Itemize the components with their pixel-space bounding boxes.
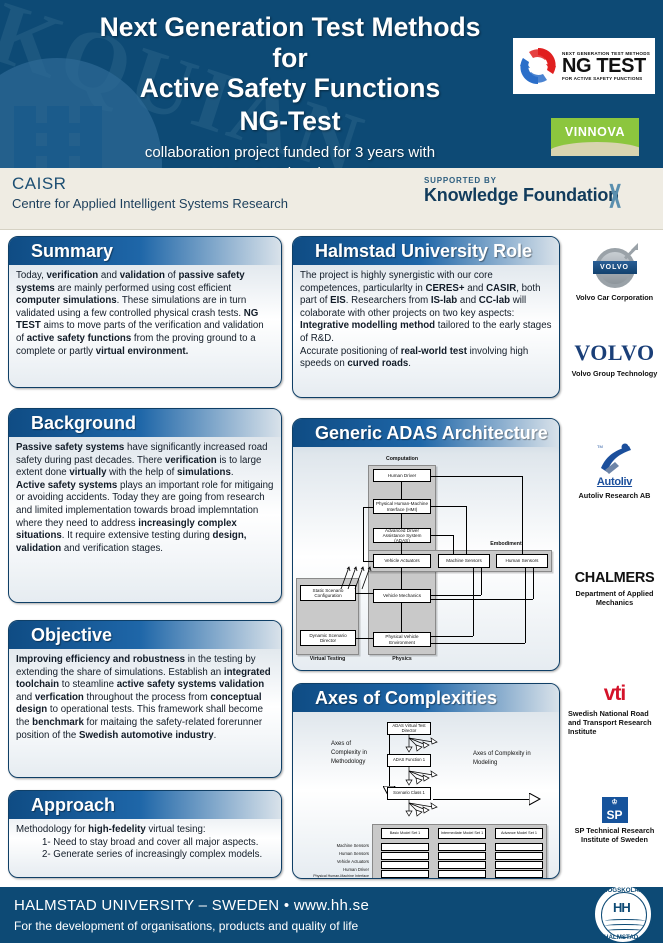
autoliv-wordmark: Autoliv [566, 476, 663, 488]
panel-axes-complexities: Axes of Complexities Axes of Complexity … [292, 683, 560, 879]
axes-branch-fan-icon-1 [405, 734, 441, 755]
axes-label-methodology: Axes of Complexity in Methodology [331, 740, 381, 767]
axes-matrix-cell [438, 843, 486, 851]
axes-matrix-cell [495, 870, 543, 878]
axes-row-label-2: Vehicle Actuators [305, 860, 369, 865]
knowledge-foundation-chevron-icon: ⟩⟨ [608, 180, 616, 211]
axes-col-header-basic: Basic Model Set 1 [381, 828, 429, 839]
adas-connector [363, 507, 364, 561]
panel-halmstad-role-title: Halmstad University Role [293, 237, 559, 265]
axes-row-label-0: Machine Sensors [305, 844, 369, 849]
axes-matrix-cell [495, 852, 543, 860]
adas-box-physical-vehicle-environment: Physical Vehicle Environment [373, 632, 431, 647]
poster-title-block: Next Generation Test Methods for Active … [80, 12, 500, 168]
logo-volvo-car-corporation: VOLVO Volvo Car Corporation [566, 244, 663, 302]
adas-connector [522, 476, 523, 554]
panel-objective-title: Objective [9, 621, 281, 649]
logo-caption-volvo-car: Volvo Car Corporation [566, 293, 663, 302]
ngtest-logo-text: NEXT GENERATION TEST METHODS NG TEST FOR… [559, 51, 651, 81]
axes-row-label-3: Human Driver [305, 868, 369, 873]
volvo-group-wordmark: VOLVO [566, 340, 663, 366]
adas-box-hmi: Physical Human-Machine Interface (HMI) [373, 499, 431, 514]
adas-connector [356, 638, 373, 639]
axes-row-label-1: Human Sensors [305, 852, 369, 857]
logo-caption-volvo-group: Volvo Group Technology [566, 369, 663, 378]
adas-label-virtual-testing: Virtual Testing [296, 656, 359, 662]
ngtest-cycle-icon [517, 44, 559, 88]
halmstad-paragraph-1: The project is highly synergistic with o… [300, 270, 552, 346]
logo-chalmers: CHALMERS Department of Applied Mechanics [566, 570, 663, 607]
panel-adas-title: Generic ADAS Architecture [293, 419, 559, 447]
axes-branch-fan-icon-3 [405, 800, 441, 820]
adas-connector [356, 593, 373, 594]
footer-line-2: For the development of organisations, pr… [14, 919, 358, 933]
adas-box-dynamic-scenario-director: Dynamic Scenario Director [300, 630, 356, 646]
axes-box-scenario-class: Scenario Class 1 [387, 787, 431, 800]
axes-row-label-4: Physical Human-Machine Interface (HMI) [305, 875, 369, 879]
axes-matrix-cell [438, 861, 486, 869]
axes-matrix-cell [438, 870, 486, 878]
logo-caption-sp: SP Technical Research Institute of Swede… [566, 826, 663, 844]
panel-summary-body: Today, verification and validation of pa… [9, 265, 281, 364]
title-line-2: Active Safety Functions [80, 73, 500, 104]
adas-box-adas: Advanced Driver Assistance System (ADAS) [373, 528, 431, 543]
adas-connector [453, 535, 454, 554]
vinnova-logo: VINNOVA [551, 118, 639, 156]
approach-item-1: 1- Need to stay broad and cover all majo… [16, 837, 274, 850]
logo-caption-chalmers: Department of Applied Mechanics [566, 589, 663, 607]
panel-objective-body: Improving efficiency and robustness in t… [9, 649, 281, 748]
adas-connector [363, 507, 373, 508]
sp-wordmark: SP [606, 808, 622, 822]
ngtest-main-text: NG TEST [562, 56, 651, 76]
halmstad-university-seal: HÖGSKOLAN HH HALMSTAD [592, 887, 654, 943]
background-paragraph-2: Active safety systems plays an important… [16, 480, 274, 556]
supported-by-label: SUPPORTED BY [424, 176, 619, 185]
logo-volvo-group-technology: VOLVO Volvo Group Technology [566, 340, 663, 378]
knowledge-foundation-name: Knowledge Foundation [424, 185, 619, 206]
adas-connector [401, 482, 402, 499]
vinnova-wave-decoration [551, 142, 639, 156]
vti-wordmark: vti [566, 682, 663, 706]
axes-branch-fan-icon-2 [405, 767, 441, 788]
axes-matrix-cell [495, 843, 543, 851]
knowledge-foundation-logo: SUPPORTED BY Knowledge Foundation [424, 176, 619, 206]
axes-matrix-cell [381, 843, 429, 851]
adas-box-human-sensors: Human Sensors [496, 554, 548, 568]
axes-modeling-arrow-icon [529, 793, 541, 806]
axes-label-modeling: Axes of Complexity in Modeling [473, 750, 531, 768]
panel-summary-title: Summary [9, 237, 281, 265]
adas-connector [431, 476, 522, 477]
summary-paragraph-1: Today, verification and validation of pa… [16, 270, 274, 358]
axes-matrix-cell [381, 870, 429, 878]
caisr-bar: CAISR Centre for Applied Intelligent Sys… [0, 168, 663, 230]
adas-connector [533, 568, 534, 599]
logo-autoliv-research: TM Autoliv Autoliv Research AB [566, 442, 663, 500]
adas-connector [525, 568, 526, 643]
poster-root: KQUIAN Next Generation Test Methods for … [0, 0, 663, 943]
caisr-acronym: CAISR [12, 174, 66, 194]
adas-diagram: Computation Embodiment Virtual Testing P… [293, 447, 559, 671]
title-line-3: NG-Test [80, 104, 500, 138]
adas-label-physics: Physics [368, 656, 436, 662]
adas-connector [401, 514, 402, 528]
panel-summary: Summary Today, verification and validati… [8, 236, 282, 388]
adas-box-vehicle-actuators: Vehicle Actuators [373, 554, 431, 568]
logo-sp-technical-research: ♔ SP SP Technical Research Institute of … [566, 797, 663, 844]
caisr-full-name: Centre for Applied Intelligent Systems R… [12, 196, 288, 211]
axes-modeling-axis-line [433, 799, 529, 800]
panel-background-title: Background [9, 409, 281, 437]
panel-axes-title: Axes of Complexities [293, 684, 559, 712]
adas-box-human-driver: Human Driver [373, 469, 431, 482]
panel-approach: Approach Methodology for high-fedelity v… [8, 790, 282, 878]
adas-label-embodiment: Embodiment [475, 541, 537, 547]
panel-approach-body: Methodology for high-fedelity virtual te… [9, 819, 281, 868]
background-paragraph-1: Passive safety systems have significantl… [16, 442, 274, 480]
adas-connector [473, 568, 474, 636]
adas-label-computation: Computation [368, 456, 436, 462]
seal-bottom-text: HALMSTAD [604, 934, 638, 941]
chalmers-wordmark: CHALMERS [566, 570, 663, 586]
adas-connector [431, 599, 533, 600]
approach-item-2: 2- Generate series of increasingly compl… [16, 849, 274, 862]
axes-box-adas-function: ADAS Function 1 [387, 754, 431, 767]
logo-caption-vti: Swedish National Road and Transport Rese… [566, 709, 663, 736]
adas-connector [363, 561, 373, 562]
poster-header: KQUIAN Next Generation Test Methods for … [0, 0, 663, 168]
adas-connector [401, 543, 402, 554]
adas-scenario-rays-icon [339, 565, 373, 591]
adas-connector [481, 568, 482, 595]
axes-matrix-cell [495, 861, 543, 869]
adas-box-vehicle-mechanics: Vehicle Mechanics [373, 589, 431, 603]
axes-matrix-cell [381, 861, 429, 869]
ngtest-bottom-text: FOR ACTIVE SAFETY FUNCTIONS [562, 76, 651, 81]
panel-background: Background Passive safety systems have s… [8, 408, 282, 603]
panel-approach-title: Approach [9, 791, 281, 819]
poster-footer: HALMSTAD UNIVERSITY – SWEDEN • www.hh.se… [0, 887, 663, 943]
axes-matrix-cell [438, 852, 486, 860]
axes-col-header-intermediate: Intermediate Model Set 1 [438, 828, 486, 839]
adas-connector [401, 568, 402, 589]
adas-box-machine-sensors: Machine Sensors [438, 554, 490, 568]
volvo-iron-mark-icon: VOLVO [592, 244, 638, 290]
adas-connector [431, 636, 473, 637]
partner-logo-sidebar: VOLVO Volvo Car Corporation VOLVO Volvo … [566, 232, 663, 887]
footer-line-1: HALMSTAD UNIVERSITY – SWEDEN • www.hh.se [14, 897, 369, 914]
panel-background-body: Passive safety systems have significantl… [9, 437, 281, 561]
panel-adas-architecture: Generic ADAS Architecture Computation Em… [292, 418, 560, 671]
title-line-1: Next Generation Test Methods for [80, 12, 500, 73]
logo-vti: vti Swedish National Road and Transport … [566, 682, 663, 736]
logo-caption-autoliv: Autoliv Research AB [566, 491, 663, 500]
sp-logo-icon: ♔ SP [602, 797, 628, 823]
seal-inner-ring: HH [601, 892, 647, 938]
sp-crown-icon: ♔ [602, 798, 628, 806]
panel-objective: Objective Improving efficiency and robus… [8, 620, 282, 778]
ngtest-logo: NEXT GENERATION TEST METHODS NG TEST FOR… [513, 38, 655, 94]
vinnova-logo-text: VINNOVA [551, 118, 639, 139]
adas-connector [431, 506, 466, 507]
panel-halmstad-role: Halmstad University Role The project is … [292, 236, 560, 398]
axes-diagram: Axes of Complexity in Methodology Axes o… [293, 712, 559, 879]
axes-matrix-cell [381, 852, 429, 860]
svg-text:TM: TM [597, 444, 603, 449]
adas-connector [431, 643, 525, 644]
approach-intro: Methodology for high-fedelity virtual te… [16, 824, 274, 837]
adas-connector [466, 506, 467, 554]
axes-col-header-advance: Advance Model Set 1 [495, 828, 543, 839]
volvo-car-wordmark: VOLVO [593, 261, 637, 274]
objective-paragraph-1: Improving efficiency and robustness in t… [16, 654, 274, 742]
adas-connector [401, 603, 402, 632]
seal-hh-mark: HH [613, 900, 630, 915]
halmstad-paragraph-2: Accurate positioning of real-world test … [300, 346, 552, 371]
panel-halmstad-role-body: The project is highly synergistic with o… [293, 265, 559, 377]
subtitle-line-1: collaboration project funded for 3 years… [80, 142, 500, 163]
adas-connector [431, 535, 453, 536]
autoliv-figure-icon: TM [595, 442, 635, 476]
